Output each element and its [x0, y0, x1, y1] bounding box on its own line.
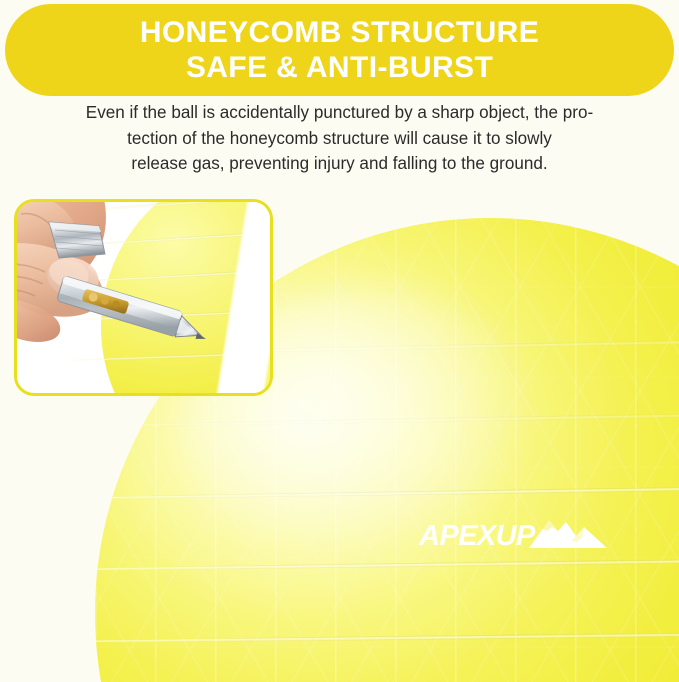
hand-with-cutter-photo [17, 202, 215, 393]
infographic-canvas: APEXUP [0, 0, 679, 682]
description-paragraph: Even if the ball is accidentally punctur… [18, 100, 661, 177]
mountain-range-icon [527, 512, 609, 550]
apexup-logo-text: APEXUP [419, 522, 535, 551]
description-line-2: tection of the honeycomb structure will … [18, 126, 661, 152]
inset-scene [17, 202, 270, 393]
description-line-1: Even if the ball is accidentally punctur… [18, 100, 661, 126]
headline-banner: HONEYCOMB STRUCTURE SAFE & ANTI-BURST [5, 4, 674, 96]
description-line-3: release gas, preventing injury and falli… [18, 151, 661, 177]
puncture-demo-inset [14, 199, 273, 396]
apexup-logo: APEXUP [419, 512, 609, 551]
headline-line-2: SAFE & ANTI-BURST [186, 50, 493, 85]
headline-line-1: HONEYCOMB STRUCTURE [140, 15, 539, 50]
